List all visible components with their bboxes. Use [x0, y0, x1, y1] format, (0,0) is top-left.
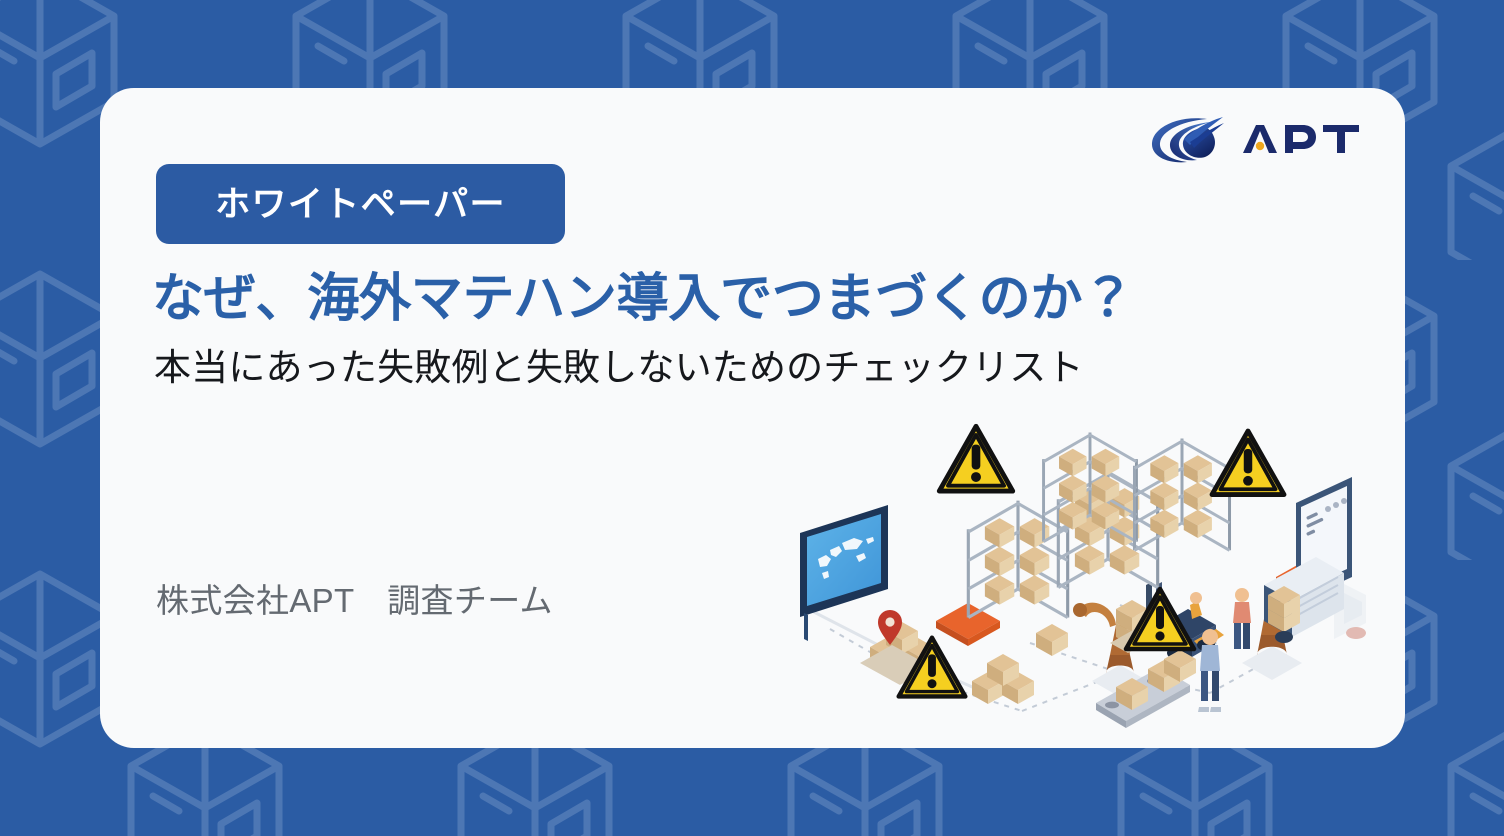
page-subtitle: 本当にあった失敗例と失敗しないためのチェックリスト [154, 346, 1384, 390]
page-title: なぜ、海外マテハン導入でつまづくのか？ [152, 270, 1382, 328]
warning-triangle [939, 426, 1012, 491]
apt-wordmark [1241, 121, 1361, 157]
world-map-display [800, 505, 888, 641]
warehouse-racks [968, 432, 1229, 617]
carton-boxes [972, 654, 1034, 704]
warehouse-automation-illustration [790, 393, 1390, 743]
warning-triangle [1212, 431, 1284, 495]
carton-box-single [1036, 624, 1068, 656]
apt-swoosh-mark-icon [1149, 113, 1227, 165]
whitepaper-badge: ホワイトペーパー [156, 164, 565, 244]
badge-label: ホワイトペーパー [215, 187, 506, 222]
author-line: 株式会社APT 調査チーム [156, 581, 553, 621]
apt-logo [1149, 110, 1361, 168]
warehouse-worker [1233, 588, 1251, 649]
whitepaper-cover-card: ホワイトペーパー なぜ、海外マテハン導入でつまづくのか？ 本当にあった失敗例と失… [100, 88, 1405, 748]
